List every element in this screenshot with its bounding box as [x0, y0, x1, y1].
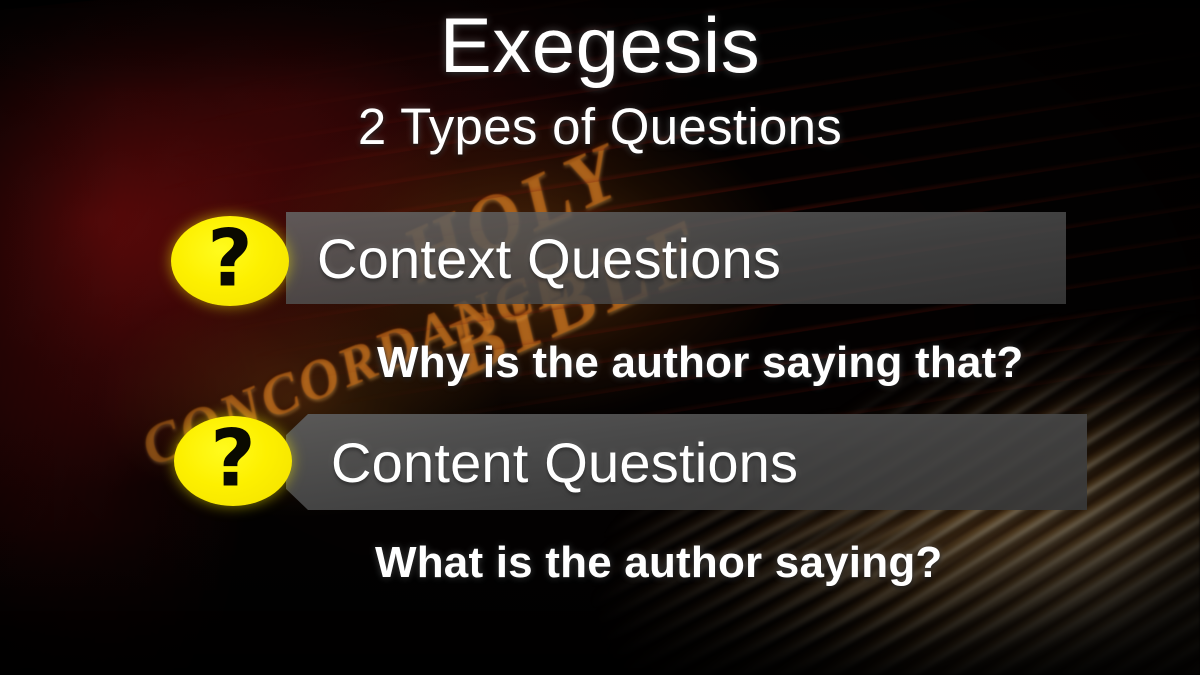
context-questions-label: Context Questions: [317, 226, 781, 291]
slide-content: Exegesis 2 Types of Questions Context Qu…: [0, 0, 1200, 675]
question-mark-glyph: ?: [174, 420, 292, 498]
slide-subtitle: 2 Types of Questions: [0, 101, 1200, 152]
context-questions-bar: Context Questions: [286, 212, 1066, 304]
content-questions-caption: What is the author saying?: [375, 538, 942, 588]
slide-title: Exegesis: [0, 6, 1200, 84]
content-questions-bar: Content Questions: [286, 414, 1087, 510]
question-mark-glyph: ?: [171, 220, 289, 298]
question-mark-icon: ?: [171, 216, 289, 306]
question-mark-icon: ?: [174, 416, 292, 506]
context-questions-caption: Why is the author saying that?: [377, 338, 1024, 388]
presentation-slide: HOLY BIBLE CONCORDANCE Exegesis 2 Types …: [0, 0, 1200, 675]
content-questions-label: Content Questions: [331, 430, 798, 495]
